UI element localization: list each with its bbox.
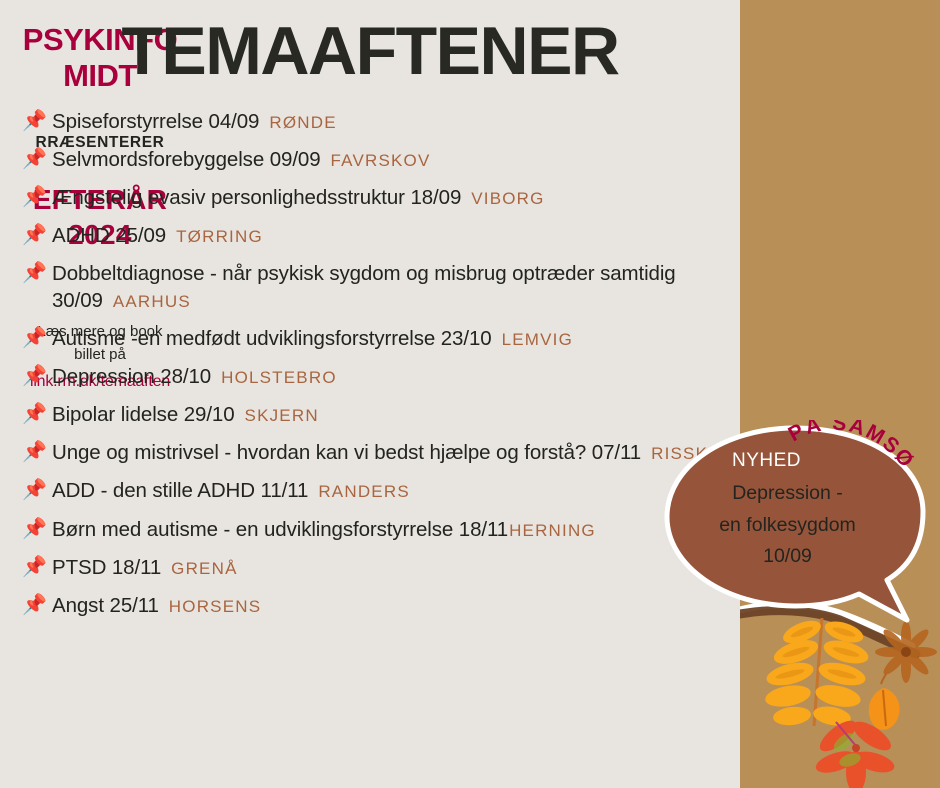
- event-list: 📌Spiseforstyrrelse 04/09RØNDE📌Selvmordsf…: [22, 108, 762, 630]
- pushpin-icon: 📌: [22, 401, 52, 427]
- event-item: 📌ADHD 25/09TØRRING: [22, 222, 762, 249]
- event-title: Bipolar lidelse 29/10: [52, 403, 235, 426]
- pushpin-icon: 📌: [22, 108, 52, 134]
- poster-canvas: PSYKINFO MIDT RRÆSENTERER EFTERÅR 2024 L…: [0, 0, 940, 788]
- event-title: Depression 28/10: [52, 365, 211, 388]
- event-location: RØNDE: [269, 113, 336, 132]
- pushpin-icon: 📌: [22, 325, 52, 351]
- event-item: 📌Depression 28/10HOLSTEBRO: [22, 363, 762, 390]
- page-title: TEMAAFTENER: [0, 12, 740, 90]
- event-item: 📌Autisme -en medfødt udviklingsforstyrre…: [22, 325, 762, 352]
- pushpin-icon: 📌: [22, 363, 52, 389]
- event-title: PTSD 18/11: [52, 556, 161, 579]
- pushpin-icon: 📌: [22, 477, 52, 503]
- pushpin-icon: 📌: [22, 439, 52, 465]
- event-item: 📌Bipolar lidelse 29/10SKJERN: [22, 401, 762, 428]
- event-item: 📌Angst 25/11HORSENS: [22, 592, 762, 619]
- event-title: Børn med autisme - en udviklingsforstyrr…: [52, 518, 508, 541]
- event-item: 📌Selvmordsforebyggelse 09/09FAVRSKOV: [22, 146, 762, 173]
- event-item: 📌Spiseforstyrrelse 04/09RØNDE: [22, 108, 762, 135]
- pushpin-icon: 📌: [22, 184, 52, 210]
- svg-text:PÅ SAMSØ: PÅ SAMSØ: [785, 420, 919, 473]
- event-title: Spiseforstyrrelse 04/09: [52, 110, 259, 133]
- event-text: Ængstelig evasiv personlighedsstruktur 1…: [52, 184, 762, 211]
- pushpin-icon: 📌: [22, 516, 52, 542]
- orange-leaf-icon: [869, 674, 900, 730]
- event-item: 📌Dobbeltdiagnose - når psykisk sygdom og…: [22, 260, 762, 314]
- event-text: Dobbeltdiagnose - når psykisk sygdom og …: [52, 260, 762, 314]
- event-item: 📌Ængstelig evasiv personlighedsstruktur …: [22, 184, 762, 211]
- event-text: Spiseforstyrrelse 04/09RØNDE: [52, 108, 762, 135]
- event-text: Selvmordsforebyggelse 09/09FAVRSKOV: [52, 146, 762, 173]
- event-text: ADHD 25/09TØRRING: [52, 222, 762, 249]
- event-title: ADD - den stille ADHD 11/11: [52, 479, 308, 502]
- event-location: HORSENS: [169, 597, 261, 616]
- event-location: TØRRING: [176, 227, 263, 246]
- event-title: Selvmordsforebyggelse 09/09: [52, 148, 321, 171]
- bubble-line-3: 10/09: [675, 541, 900, 573]
- event-location: SKJERN: [245, 406, 319, 425]
- event-title: Autisme -en medfødt udviklingsforstyrrel…: [52, 327, 492, 350]
- event-title: Ængstelig evasiv personlighedsstruktur 1…: [52, 186, 461, 209]
- event-item: 📌Børn med autisme - en udviklingsforstyr…: [22, 516, 762, 543]
- event-location: VIBORG: [471, 189, 544, 208]
- event-location: RANDERS: [318, 482, 410, 501]
- news-speech-bubble: PÅ SAMSØ NYHED Depression - en folkesygd…: [655, 424, 940, 649]
- event-location: FAVRSKOV: [331, 151, 431, 170]
- event-text: Depression 28/10HOLSTEBRO: [52, 363, 762, 390]
- event-item: 📌ADD - den stille ADHD 11/11RANDERS: [22, 477, 762, 504]
- event-title: Unge og mistrivsel - hvordan kan vi beds…: [52, 441, 641, 464]
- pushpin-icon: 📌: [22, 554, 52, 580]
- event-item: 📌Unge og mistrivsel - hvordan kan vi bed…: [22, 439, 762, 466]
- pushpin-icon: 📌: [22, 222, 52, 248]
- pushpin-icon: 📌: [22, 260, 52, 286]
- event-item: 📌PTSD 18/11GRENÅ: [22, 554, 762, 581]
- pushpin-icon: 📌: [22, 146, 52, 172]
- event-location: GRENÅ: [171, 559, 237, 578]
- event-text: Autisme -en medfødt udviklingsforstyrrel…: [52, 325, 762, 352]
- event-location: AARHUS: [113, 292, 191, 311]
- event-location: HERNING: [509, 521, 596, 540]
- pushpin-icon: 📌: [22, 592, 52, 618]
- event-title: Angst 25/11: [52, 594, 159, 617]
- event-title: ADHD 25/09: [52, 224, 166, 247]
- event-location: LEMVIG: [502, 330, 573, 349]
- event-location: HOLSTEBRO: [221, 368, 337, 387]
- pa-samso-curved-text: PÅ SAMSØ: [785, 420, 940, 525]
